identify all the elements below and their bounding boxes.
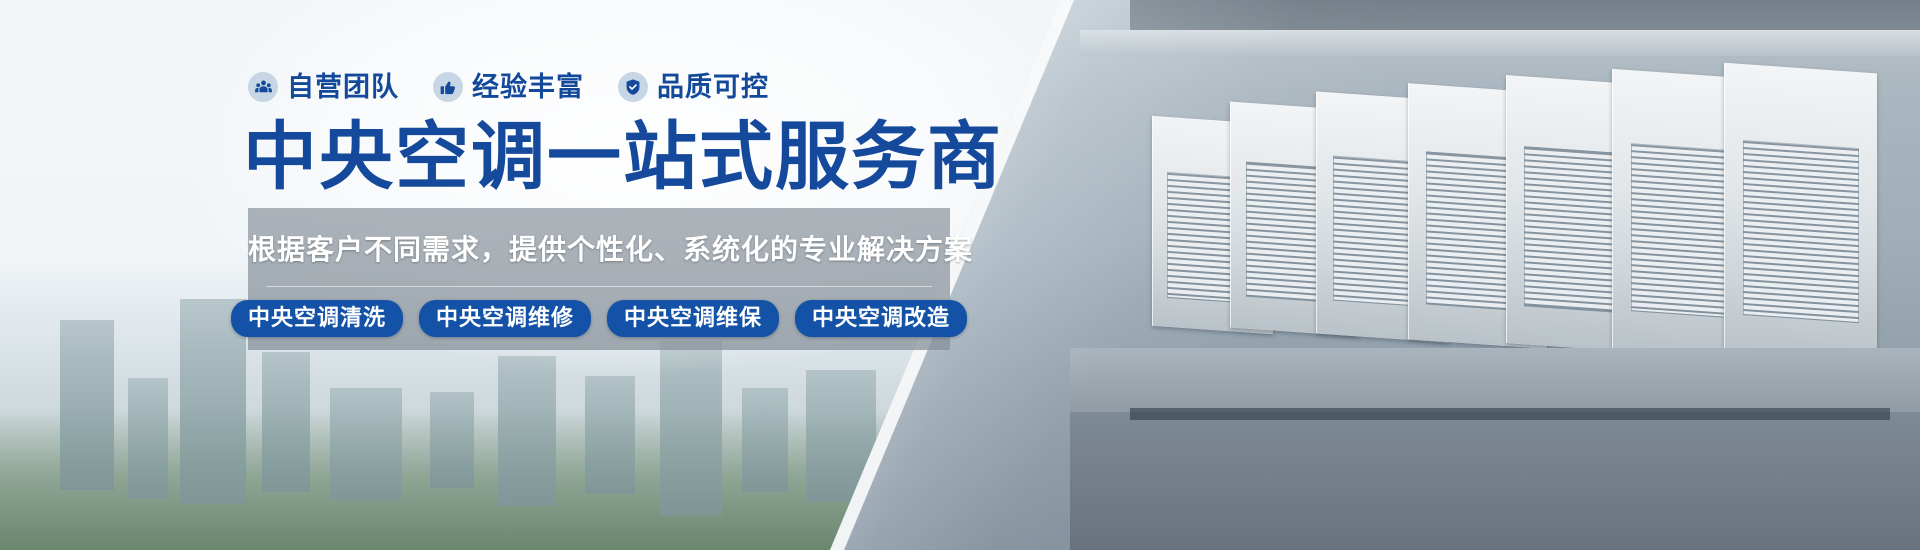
feature-label: 经验丰富 — [472, 74, 584, 101]
service-tag-maintenance[interactable]: 中央空调维保 — [607, 300, 779, 337]
hero-banner: 自营团队 经验丰富 品质可控 — [0, 0, 1920, 550]
feature-list: 自营团队 经验丰富 品质可控 — [248, 72, 769, 102]
thumbs-up-icon — [433, 72, 463, 102]
page-title: 中央空调一站式服务商 — [243, 118, 1003, 196]
feature-item-self-operated-team: 自营团队 — [248, 72, 399, 102]
service-tag-list: 中央空调清洗 中央空调维修 中央空调维保 中央空调改造 — [248, 300, 950, 337]
feature-label: 自营团队 — [287, 74, 399, 101]
banner-content: 自营团队 经验丰富 品质可控 — [0, 0, 1000, 550]
people-group-icon — [248, 72, 278, 102]
service-tag-cleaning[interactable]: 中央空调清洗 — [231, 300, 403, 337]
roof-slab — [1080, 30, 1920, 56]
service-tag-renovation[interactable]: 中央空调改造 — [795, 300, 967, 337]
subtitle: 根据客户不同需求，提供个性化、系统化的专业解决方案 — [248, 236, 950, 264]
condenser-unit — [1724, 63, 1877, 366]
info-panel: 根据客户不同需求，提供个性化、系统化的专业解决方案 中央空调清洗 中央空调维修 … — [248, 208, 950, 350]
feature-item-rich-experience: 经验丰富 — [433, 72, 584, 102]
pipe-run — [1130, 408, 1890, 420]
service-tag-repair[interactable]: 中央空调维修 — [419, 300, 591, 337]
feature-item-quality-control: 品质可控 — [618, 72, 769, 102]
shield-check-icon — [618, 72, 648, 102]
roof-shadow — [1070, 412, 1920, 550]
panel-divider — [266, 286, 932, 287]
feature-label: 品质可控 — [657, 74, 769, 101]
